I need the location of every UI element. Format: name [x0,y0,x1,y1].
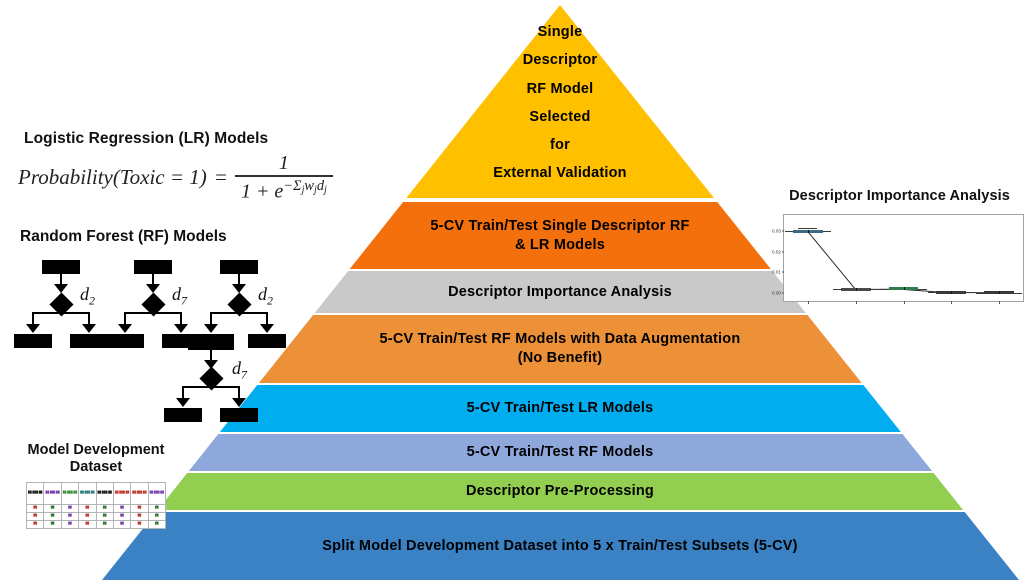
dataset-thumbnail-cell: ██ [148,520,165,528]
dataset-thumbnail-header-cell: ██ ███ ██ [131,482,148,504]
dataset-thumbnail-header-cell: ██ ███ ██ [148,482,165,504]
dataset-thumbnail-cell: ██ [44,520,61,528]
decision-tree-3-split-label-2-letter: d [232,358,241,378]
chart-y-tick-label: 0.01 [772,270,781,275]
dataset-thumbnail-header-cell: ██ ███ ██ [44,482,61,504]
chart-title: Descriptor Importance Analysis [775,188,1024,204]
decision-tree-1-split-bar [32,312,90,314]
decision-tree-1-split-label-index: 2 [89,294,95,308]
pyramid-band-data-augmentation [259,315,862,383]
dataset-thumbnail-header-cell: ██ ███ ██ [113,482,130,504]
decision-tree-2-root-node [134,260,172,274]
descriptor-importance-chart-block: Descriptor Importance Analysis 0.000.010… [775,188,1024,302]
pyramid-band-descriptor-importance [315,271,806,313]
decision-tree-3-sub-leaf-left [164,408,202,422]
random-forest-block: Random Forest (RF) Models d2d7d2d7 [14,228,284,396]
decision-tree-2-split-label-letter: d [172,284,181,304]
chart-y-tick-mark [782,251,784,252]
dataset-thumbnail-title: Model Development Dataset [6,442,186,477]
decision-tree-1-split-label: d2 [80,284,95,309]
dataset-thumbnail-cell: ██ [79,504,96,512]
decision-tree-2-leaf-left [106,334,144,348]
dataset-thumbnail-cell: ██ [96,512,113,520]
decision-tree-1-leaf-left [14,334,52,348]
dataset-thumbnail-cell: ██ [148,504,165,512]
chart-y-tick-mark [782,231,784,232]
decision-tree-2-split-bar [124,312,182,314]
pyramid-band-apex [406,5,714,198]
logistic-regression-title: Logistic Regression (LR) Models [24,130,348,148]
dataset-thumbnail-cell: ██ [113,520,130,528]
dataset-thumbnail-cell: ██ [113,504,130,512]
formula-equals: = [214,165,228,190]
decision-tree-2-split-label-index: 7 [181,294,187,308]
decision-tree-3-root-node [220,260,258,274]
exponent-w: w [304,178,314,194]
dataset-thumbnail-cell: ██ [148,512,165,520]
formula-numerator: 1 [269,153,299,175]
decision-tree-3-split-label: d2 [258,284,273,309]
dataset-thumbnail-block: Model Development Dataset ██ ███ ████ ██… [6,442,186,529]
pyramid-band-split-dataset [102,512,1019,580]
denominator-base: 1 + e [241,180,283,202]
random-forest-title: Random Forest (RF) Models [20,228,284,246]
dataset-thumbnail-cell: ██ [113,512,130,520]
chart-median-line [951,291,952,294]
chart-plot-area: 0.000.010.020.03 [783,214,1024,302]
formula-fraction: 1 1 + e−Σjwjdj [235,153,333,202]
dataset-thumbnail-table: ██ ███ ████ ███ ████ ███ ████ ███ ████ █… [26,482,166,529]
decision-tree-group: d2d7d2d7 [14,256,284,396]
exponent-group: −Σjwjdj [283,178,327,194]
dataset-thumbnail-row: ████████████████ [27,504,166,512]
logistic-regression-formula: Probability(Toxic = 1) = 1 1 + e−Σjwjdj [18,153,348,202]
decision-tree-1-split-label-letter: d [80,284,89,304]
chart-median-line [904,287,905,290]
decision-tree-3-split-label-letter: d [258,284,267,304]
formula-denominator: 1 + e−Σjwjdj [235,177,333,202]
chart-x-tick-mark [951,301,952,304]
diagram-canvas: Single Descriptor RF Model Selected for … [0,0,1024,585]
decision-tree-3-split-label-index: 2 [267,294,273,308]
dataset-thumbnail-header-cell: ██ ███ ██ [79,482,96,504]
dataset-thumbnail-header-cell: ██ ███ ██ [27,482,44,504]
chart-y-tick-label: 0.03 [772,229,781,234]
chart-y-tick-label: 0.00 [772,291,781,296]
dataset-thumbnail-cell: ██ [27,512,44,520]
pyramid-band-lr-models [220,385,901,432]
dataset-thumbnail-cell: ██ [96,520,113,528]
dataset-thumbnail-cell: ██ [79,520,96,528]
decision-tree-2-left-arrow [118,324,132,333]
decision-tree-1-leaf-right [70,334,108,348]
pyramid-band-pre-processing [158,473,963,510]
chart-median-line [856,288,857,291]
dataset-thumbnail-cell: ██ [44,504,61,512]
dataset-thumbnail-cell: ██ [131,520,148,528]
decision-tree-3-sub-left-arrow [176,398,190,407]
exponent-sigma: −Σ [283,178,301,194]
chart-x-tick-mark [808,301,809,304]
decision-tree-1-right-arrow [82,324,96,333]
decision-tree-3-sub-bar [182,386,240,388]
dataset-thumbnail-header-cell: ██ ███ ██ [61,482,78,504]
decision-tree-2-split-label: d7 [172,284,187,309]
decision-tree-3-right-arrow [260,324,274,333]
decision-tree-3-split-label-2-index: 7 [241,368,247,382]
chart-median-line [999,291,1000,294]
decision-tree-3-left-arrow [204,324,218,333]
dataset-thumbnail-cell: ██ [61,504,78,512]
dataset-thumbnail-cell: ██ [61,512,78,520]
dataset-thumbnail-cell: ██ [61,520,78,528]
chart-x-tick-mark [999,301,1000,304]
pyramid-band-rf-models [189,434,932,471]
dataset-thumbnail-cell: ██ [131,504,148,512]
decision-tree-1-left-arrow [26,324,40,333]
exponent-d-index: j [324,184,327,195]
chart-trend-segment [807,231,856,290]
dataset-thumbnail-header-cell: ██ ███ ██ [96,482,113,504]
dataset-thumbnail-header-row: ██ ███ ████ ███ ████ ███ ████ ███ ████ █… [27,482,166,504]
formula-lhs: Probability(Toxic = 1) [18,165,207,190]
dataset-thumbnail-cell: ██ [27,504,44,512]
decision-tree-3-sub-right-arrow [232,398,246,407]
chart-x-tick-mark [856,301,857,304]
pyramid-band-single-descriptor-models [350,202,771,269]
chart-y-tick-mark [782,293,784,294]
decision-tree-2-right-arrow [174,324,188,333]
dataset-thumbnail-cell: ██ [44,512,61,520]
decision-tree-3-leaf-left [188,334,234,350]
dataset-thumbnail-cell: ██ [79,512,96,520]
decision-tree-3-split-label-2: d7 [232,358,247,383]
decision-tree-3-leaf-right [248,334,286,348]
chart-y-tick-mark [782,272,784,273]
decision-tree-1-root-node [42,260,80,274]
chart-y-tick-label: 0.02 [772,249,781,254]
dataset-thumbnail-cell: ██ [96,504,113,512]
chart-median-line [808,230,809,233]
chart-x-tick-mark [904,301,905,304]
dataset-thumbnail-cell: ██ [131,512,148,520]
decision-tree-3-split-bar [210,312,268,314]
exponent-d: d [317,178,324,194]
dataset-thumbnail-cell: ██ [27,520,44,528]
dataset-thumbnail-row: ████████████████ [27,520,166,528]
decision-tree-3-sub-leaf-right [220,408,258,422]
logistic-regression-block: Logistic Regression (LR) Models Probabil… [18,130,348,202]
dataset-thumbnail-row: ████████████████ [27,512,166,520]
